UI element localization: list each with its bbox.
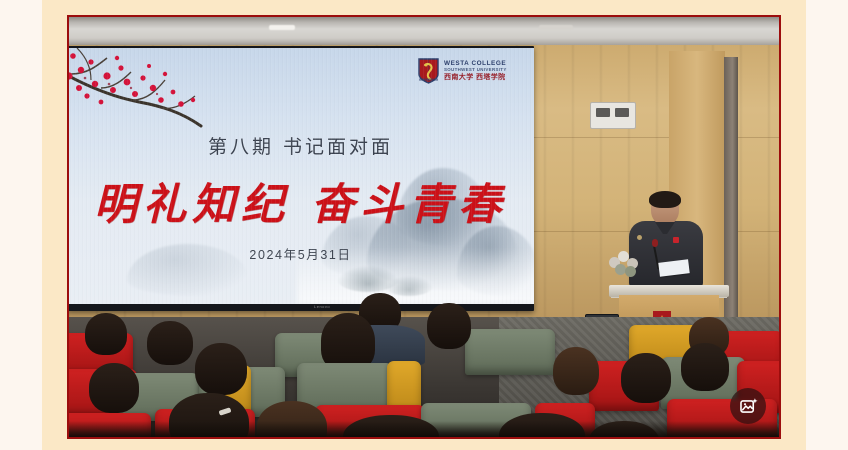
audience-head — [553, 347, 599, 395]
college-logo: WESTA COLLEGE SOUTHWEST UNIVERSITY 西南大学 … — [418, 58, 507, 84]
college-crest-icon — [418, 58, 439, 84]
screen-brand-label: Lenovo — [314, 304, 330, 309]
logo-chinese: 西南大学 西塔学院 — [444, 74, 507, 81]
speaker-shirt-logo — [637, 235, 642, 240]
foreground-shadow — [69, 421, 779, 437]
speaker-at-podium — [609, 193, 729, 337]
podium-flowers — [607, 249, 641, 277]
speaker-hair — [649, 191, 681, 208]
audience-head — [147, 321, 193, 365]
audience-head — [89, 363, 139, 413]
presentation-slide: WESTA COLLEGE SOUTHWEST UNIVERSITY 西南大学 … — [69, 48, 534, 304]
projection-screen: WESTA COLLEGE SOUTHWEST UNIVERSITY 西南大学 … — [69, 46, 534, 311]
audience-head — [195, 343, 247, 395]
logo-english-line2: SOUTHWEST UNIVERSITY — [444, 68, 507, 73]
audience-head — [681, 343, 729, 391]
microphone-head — [652, 239, 658, 247]
slide-date: 2024年5月31日 — [69, 244, 534, 263]
lecture-hall-photo: WESTA COLLEGE SOUTHWEST UNIVERSITY 西南大学 … — [69, 17, 779, 437]
speaker-lapel-badge — [673, 237, 679, 243]
ceiling-light — [269, 25, 295, 30]
ceiling-light — [539, 25, 573, 30]
image-sparkle-icon — [739, 397, 758, 416]
enhance-image-button[interactable] — [730, 388, 766, 424]
slide-subtitle: 第八期 书记面对面 — [69, 132, 534, 159]
seat — [465, 329, 555, 375]
audience-head — [85, 313, 127, 355]
audience-head — [427, 303, 471, 349]
photo-frame[interactable]: WESTA COLLEGE SOUTHWEST UNIVERSITY 西南大学 … — [67, 15, 781, 439]
audience-head — [621, 353, 671, 403]
page-root: WESTA COLLEGE SOUTHWEST UNIVERSITY 西南大学 … — [0, 0, 848, 450]
ceiling-soffit — [69, 17, 779, 47]
slide-title: 明礼知纪 奋斗青春 — [69, 170, 534, 232]
wall-control-plate — [590, 102, 636, 129]
logo-english-line1: WESTA COLLEGE — [444, 61, 507, 68]
